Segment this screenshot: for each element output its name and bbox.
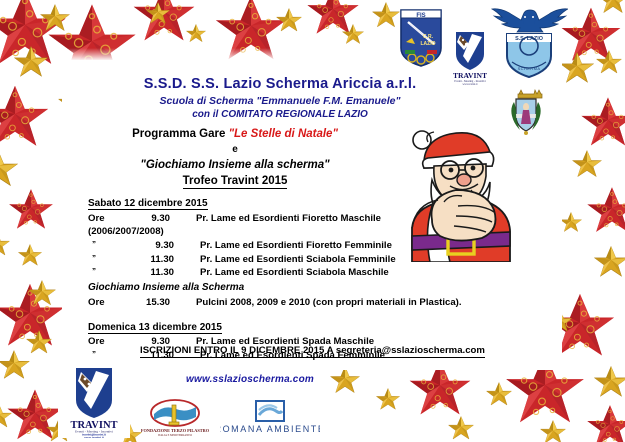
row-ore-ditto: ” [88, 239, 120, 253]
registration-text: ISCRIZIONI ENTRO IL 9 DICEMBRE 2015 A se… [140, 345, 485, 358]
registration-notice: ISCRIZIONI ENTRO IL 9 DICEMBRE 2015 A se… [0, 345, 625, 356]
giochiamo-heading: Giochiamo Insieme alla Scherma [88, 280, 508, 296]
sunday-label: Domenica 13 dicembre 2015 [88, 322, 222, 334]
program-highlight: "Le Stelle di Natale" [229, 128, 338, 140]
organization-subtitle-school: Scuola di Scherma "Emmanuele F.M. Emanue… [0, 95, 560, 109]
row-event: Pulcini 2008, 2009 e 2010 (con propri ma… [174, 296, 462, 310]
ss-lazio-crest: S.S. LAZIO SCHERMA [490, 4, 568, 80]
schedule-spacer [88, 310, 508, 319]
row-event: Pr. Lame ed Esordienti Sciabola Femminil… [178, 253, 396, 267]
row-ore-ditto: ” [88, 253, 120, 267]
svg-text:LAZIO: LAZIO [421, 41, 436, 47]
travint-logo-bottom: TRAVINT Eventi - Meeting - Incentivi tra… [58, 366, 130, 438]
fis-label: FIS [416, 13, 425, 19]
row-ore-label: Ore [88, 296, 116, 310]
romana-ambiente-label: ROMANA AMBIENTE [220, 424, 320, 434]
row-time: 9.30 [120, 239, 178, 253]
program-line-3: Trofeo Travint 2015 [20, 173, 450, 190]
svg-text:SCHERMA: SCHERMA [518, 66, 541, 71]
svg-text:C.R.: C.R. [423, 34, 434, 40]
fis-cr-lazio-logo: FIS C.R. LAZIO [398, 8, 444, 68]
row-ore-ditto: ” [88, 266, 120, 280]
row-event: Pr. Lame ed Esordienti Fioretto Femminil… [178, 239, 392, 253]
travint-label: TRAVINT [453, 71, 487, 80]
row-time: 11.30 [120, 253, 178, 267]
travint-website: www.travint.it [84, 435, 105, 438]
program-line-2: "Giochiamo Insieme alla scherma" [20, 157, 450, 174]
program-title-block: Programma Gare "Le Stelle di Natale" e "… [20, 126, 450, 190]
fondazione-terzo-pilastro-logo: FONDAZIONE TERZO PILASTRO ITALIA E MEDIT… [140, 398, 210, 438]
schedule-day-heading-sunday: Domenica 13 dicembre 2015 [88, 321, 508, 336]
program-prefix: Programma Gare [132, 128, 229, 140]
row-event: Pr. Lame ed Esordienti Sciabola Maschile [178, 266, 389, 280]
svg-text:www.travint.it: www.travint.it [463, 83, 478, 86]
row-time: 15.30 [116, 296, 174, 310]
terzo-pilastro-sub: ITALIA E MEDITERRANEO [158, 434, 192, 437]
row-time: 9.30 [116, 212, 174, 226]
program-connector: e [20, 143, 450, 157]
poster-canvas: S.S.D. S.S. Lazio Scherma Ariccia a.r.l.… [0, 0, 625, 442]
ss-lazio-label: S.S. LAZIO [515, 36, 543, 42]
schedule-row: ” 11.30 Pr. Lame ed Esordienti Sciabola … [88, 266, 508, 280]
travint-logo-top: TRAVINT Eventi - Meeting - Incentivi www… [448, 30, 492, 86]
program-trophy-label: Trofeo Travint 2015 [183, 175, 288, 189]
romana-ambiente-logo: ROMANA AMBIENTE [220, 400, 320, 436]
row-ore-label: Ore [88, 212, 116, 226]
organization-subtitle-committee: con il COMITATO REGIONALE LAZIO [0, 108, 560, 121]
row-event: Pr. Lame ed Esordienti Fioretto Maschile [174, 212, 381, 226]
row-time: 11.30 [120, 266, 178, 280]
program-line-1: Programma Gare "Le Stelle di Natale" [20, 126, 450, 143]
giochiamo-row: Ore 15.30 Pulcini 2008, 2009 e 2010 (con… [88, 296, 508, 310]
terzo-pilastro-label: FONDAZIONE TERZO PILASTRO [141, 428, 210, 433]
santa-claus-pointing-illustration [398, 124, 518, 262]
saturday-label: Sabato 12 dicembre 2015 [88, 198, 208, 210]
